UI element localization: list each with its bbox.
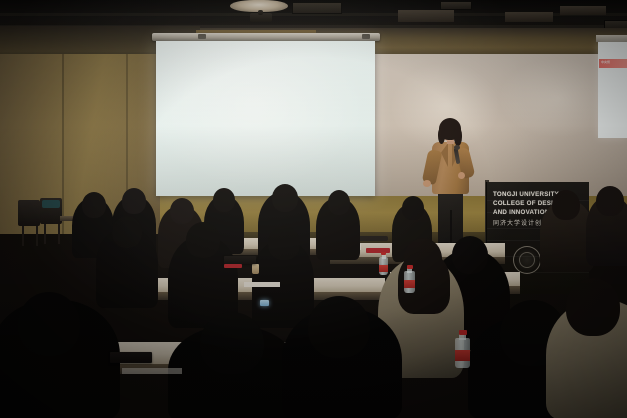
- presenter-hair-side-right: [454, 128, 462, 146]
- chair-cushion: [42, 200, 60, 208]
- chair-leg: [58, 224, 60, 244]
- attendee-back-2-head: [122, 188, 146, 214]
- projector-mount: [258, 10, 263, 15]
- roller-knob: [362, 34, 370, 39]
- bottle-cap: [459, 330, 467, 335]
- attendee-back-4-head: [213, 188, 235, 212]
- ceiling-duct: [440, 1, 472, 10]
- slide-title: 中央督导组工作要求: [170, 59, 218, 66]
- paper-sheet-1: [244, 282, 280, 287]
- notebook-2: [224, 256, 256, 264]
- attendee-back-8-head: [552, 190, 580, 220]
- banner-line-3: AND INNOVATION: [493, 209, 550, 217]
- tongji-seal-icon: [513, 246, 541, 274]
- attendee-mid-3-head: [268, 226, 300, 260]
- attendee-front-1-head: [18, 292, 80, 356]
- roller-knob: [198, 34, 206, 39]
- bottle-cap: [381, 252, 386, 255]
- slide-tag-2: 扎实做好巡视整改落实: [178, 159, 240, 170]
- presenter-hair-side-left: [438, 128, 445, 144]
- attendee-mid-4-head: [452, 236, 488, 274]
- attendee-back-1-head: [82, 192, 106, 218]
- attendee-back-5-head: [272, 184, 298, 212]
- red-folder: [224, 264, 242, 268]
- bottle-label: [404, 280, 415, 288]
- attendee-back-9-head: [596, 186, 624, 216]
- projection-screen: 中央督导组工作要求 深刻把握 "四个着力点" 扎实做好巡视整改落实 作为核心内容…: [156, 41, 375, 196]
- wall-seam: [62, 54, 64, 234]
- ceiling-panel: [560, 6, 606, 15]
- drink-cup: [252, 264, 259, 274]
- attendee-mid-2-head: [186, 222, 220, 258]
- phone-screen: [260, 300, 269, 306]
- slide-text-2: 坚持以学为先，以查促改，强化监督，压实责任，把握好重要节点，严明纪律，一体推进，…: [251, 145, 369, 164]
- bottle-cap: [407, 265, 413, 269]
- notebook-1: [110, 352, 152, 363]
- bottle-label: [455, 350, 470, 361]
- lecture-hall-photo: 中央督导组工作要求 深刻把握 "四个着力点" 扎实做好巡视整改落实 作为核心内容…: [0, 0, 627, 418]
- presenter-hand-right: [458, 172, 465, 179]
- water-bottle-3: [379, 252, 388, 276]
- second-projection-screen: 中央督: [598, 42, 627, 138]
- slide-tag-1: 深刻把握 "四个着力点": [178, 98, 236, 109]
- presentation-slide: 中央督导组工作要求 深刻把握 "四个着力点" 扎实做好巡视整改落实 作为核心内容…: [156, 41, 375, 196]
- slide-header-banner: 中央督导组工作要求: [160, 55, 356, 70]
- attendee-back-7-head: [402, 196, 424, 220]
- presenter-leg-split: [450, 210, 452, 246]
- slide-text-block-1: 作为核心内容要求重点，日常公务活动长效化，在于科学化规范化，落实落细各项安排，迫…: [246, 79, 374, 135]
- attendee-mid-1-head: [112, 216, 142, 248]
- water-bottle-2: [455, 330, 470, 368]
- attendee-front-beige-head: [566, 278, 620, 336]
- second-screen-title: 中央督: [601, 60, 610, 64]
- slide-text-block-2: 坚持以学为先，以查促改，强化监督，压实责任，把握好重要节点，严明纪律，一体推进，…: [246, 141, 374, 193]
- microphone-head: [454, 145, 460, 150]
- chair-leg: [36, 226, 38, 246]
- attendee-front-2-head: [200, 312, 264, 374]
- chair-leg: [44, 224, 46, 244]
- ceiling-panel: [505, 12, 553, 22]
- attendee-back-6-head: [328, 190, 350, 215]
- paper-sheet-2: [122, 368, 182, 374]
- screen-roller-housing: [152, 33, 380, 41]
- water-bottle-1: [404, 265, 415, 293]
- bottle-label: [379, 265, 388, 272]
- empty-chair-1: [18, 200, 40, 226]
- slide-text-1: 作为核心内容要求重点，日常公务活动长效化，在于科学化规范化，落实落细各项安排，迫…: [251, 83, 369, 102]
- banner-line-1: TONGJI UNIVERSITY: [493, 191, 559, 199]
- attendee-front-3-head: [308, 296, 370, 358]
- ceiling-panel: [398, 10, 454, 22]
- chair-leg: [22, 226, 24, 246]
- ceiling-duct: [292, 2, 342, 14]
- second-screen-roller: [596, 35, 627, 42]
- presenter-hand-left: [423, 180, 431, 187]
- attendee-back-3-head: [170, 198, 194, 224]
- slide-accent-rule: [160, 70, 330, 71]
